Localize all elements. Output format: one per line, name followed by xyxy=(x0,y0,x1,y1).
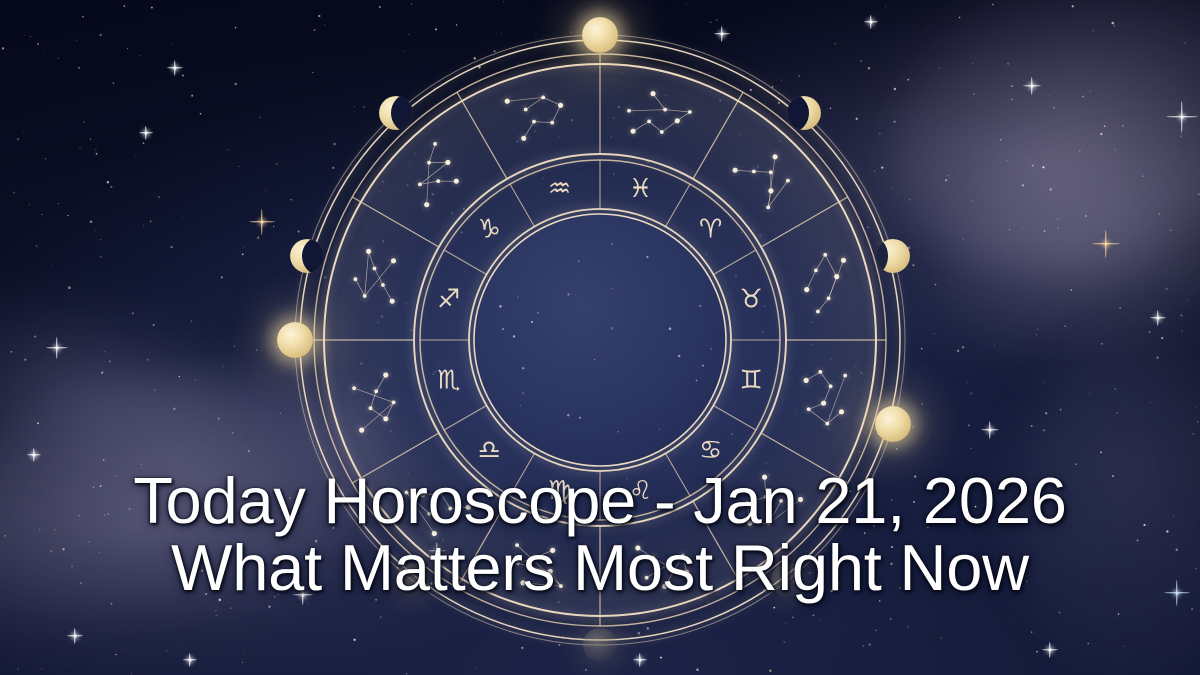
waning-gibbous-right xyxy=(876,239,910,273)
zodiac-glyph-pisces: ♓ xyxy=(629,174,652,204)
new-moon-bottom xyxy=(583,628,617,662)
zodiac-glyph-cancer: ♋ xyxy=(699,436,722,466)
horoscope-banner: ♓♈♉♊♋♌♍♎♏♐♑♒ Today Horoscope - Jan 21, 2… xyxy=(0,0,1200,675)
zodiac-glyph-aquarius: ♒ xyxy=(548,174,571,204)
zodiac-glyph-gemini: ♊ xyxy=(740,366,763,396)
waxing-crescent-upper-left-low xyxy=(290,239,324,273)
zodiac-glyph-aries: ♈ xyxy=(699,214,722,244)
title-line-1: Today Horoscope - Jan 21, 2026 xyxy=(133,464,1067,537)
full-moon-left xyxy=(277,322,313,358)
zodiac-glyph-taurus: ♉ xyxy=(740,285,763,315)
waxing-crescent-upper-left xyxy=(379,96,413,130)
zodiac-glyph-libra: ♎ xyxy=(478,436,501,466)
zodiac-glyph-sagittarius: ♐ xyxy=(437,285,460,315)
full-moon-top xyxy=(582,17,618,53)
zodiac-glyph-scorpio: ♏ xyxy=(437,366,460,396)
title-line-2: What Matters Most Right Now xyxy=(0,535,1200,602)
zodiac-glyph-capricorn: ♑ xyxy=(478,214,501,244)
banner-title: Today Horoscope - Jan 21, 2026 What Matt… xyxy=(0,468,1200,602)
